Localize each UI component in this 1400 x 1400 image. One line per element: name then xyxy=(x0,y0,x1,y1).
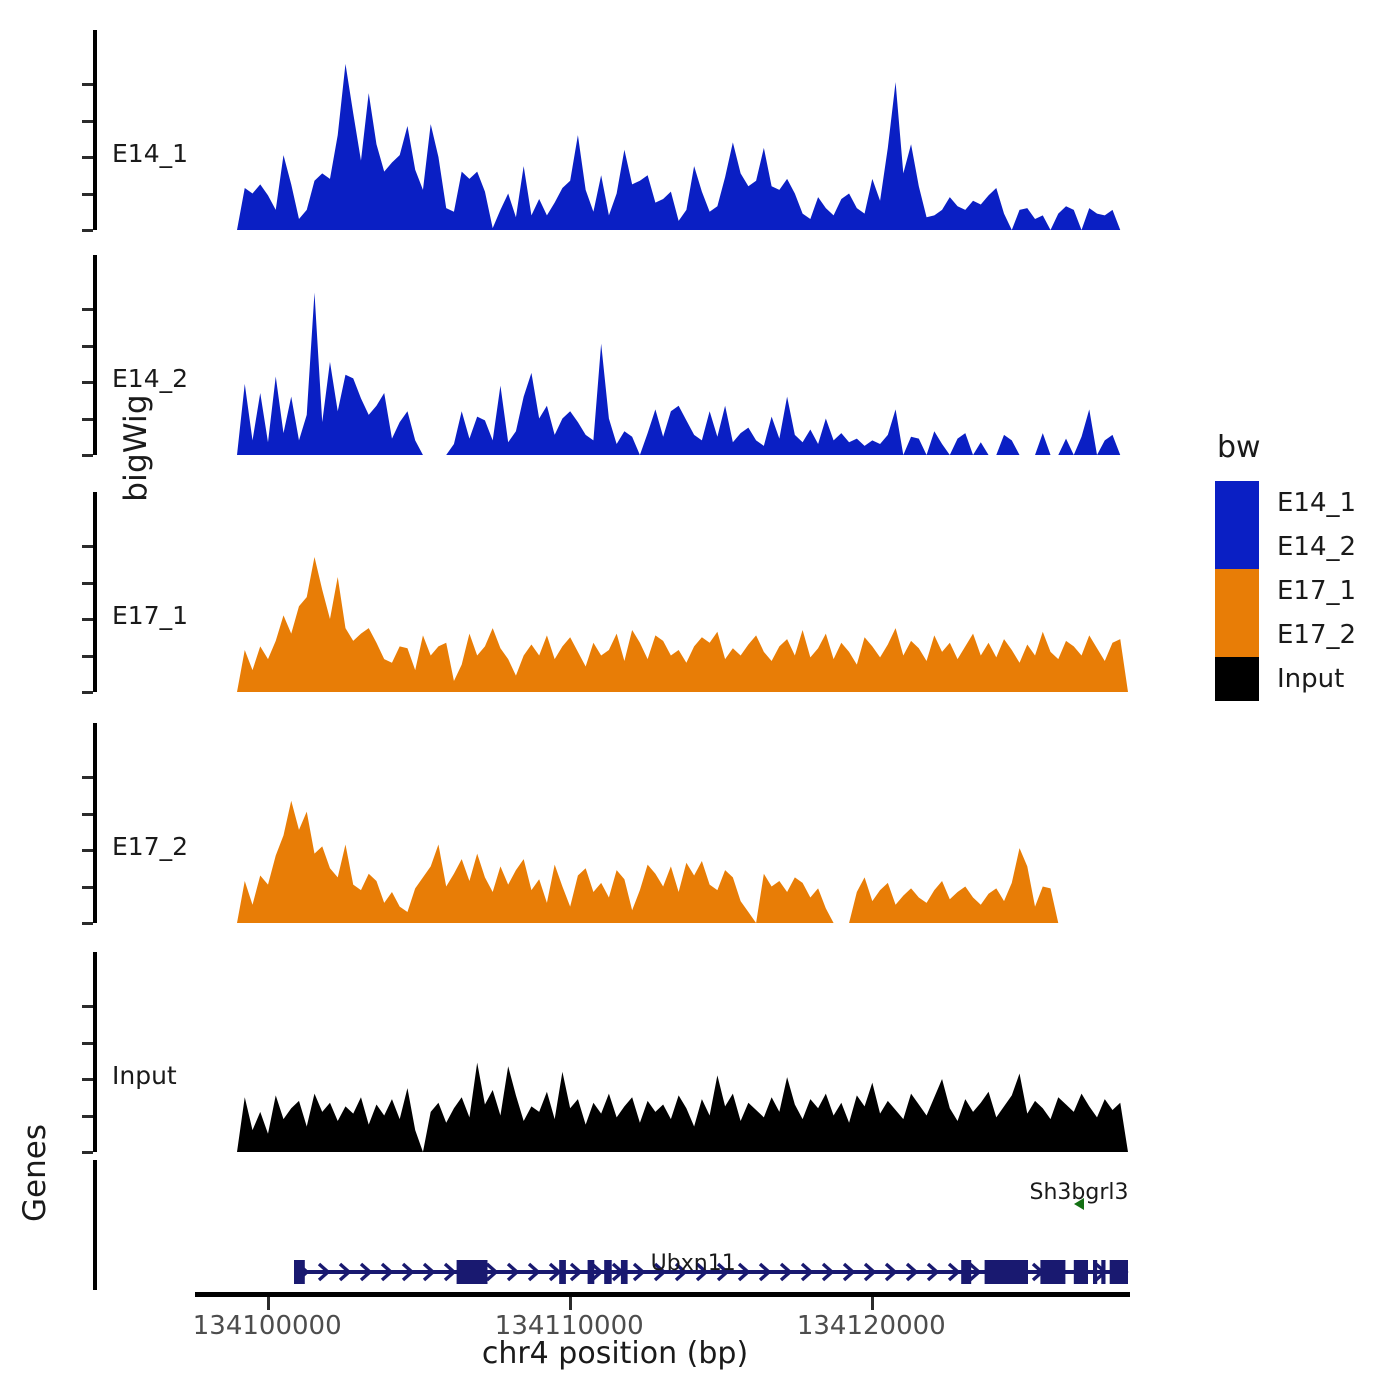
y-tick xyxy=(82,1078,93,1081)
y-axis-spine xyxy=(93,30,97,230)
track-label-e14_2: E14_2 xyxy=(112,364,188,393)
y-tick xyxy=(82,922,93,925)
y-tick xyxy=(82,691,93,694)
coverage-area-e14_2 xyxy=(237,281,1128,457)
legend-label: E14_1 xyxy=(1277,488,1356,518)
y-tick xyxy=(82,776,93,779)
legend-swatch xyxy=(1215,613,1259,657)
y-axis-title-genes: Genes xyxy=(17,1093,53,1253)
y-tick xyxy=(82,1042,93,1045)
coverage-area-e14_1 xyxy=(237,56,1128,232)
y-tick xyxy=(82,618,93,621)
y-tick xyxy=(82,120,93,123)
legend-label: E14_2 xyxy=(1277,532,1356,562)
y-tick xyxy=(82,381,93,384)
y-tick xyxy=(82,849,93,852)
legend-title: bw xyxy=(1217,430,1356,465)
legend-swatch xyxy=(1215,481,1259,525)
y-tick xyxy=(82,1115,93,1118)
legend-swatch xyxy=(1215,525,1259,569)
x-tick-label: 134120000 xyxy=(797,1311,946,1341)
y-axis-spine xyxy=(93,723,97,923)
gene-label-ubxn11: Ubxn11 xyxy=(651,1251,736,1276)
legend-swatch xyxy=(1215,657,1259,701)
y-tick xyxy=(82,229,93,232)
y-tick xyxy=(82,83,93,86)
y-tick xyxy=(82,813,93,816)
y-tick xyxy=(82,1005,93,1008)
track-label-e17_1: E17_1 xyxy=(112,601,188,630)
y-tick xyxy=(82,582,93,585)
legend-items: E14_1E14_2E17_1E17_2Input xyxy=(1215,481,1356,701)
legend-label: E17_2 xyxy=(1277,620,1356,650)
y-axis-title-bigwig: bigWig xyxy=(118,318,154,578)
legend-item-input[interactable]: Input xyxy=(1215,657,1356,701)
legend-label: Input xyxy=(1277,664,1344,694)
legend: bw E14_1E14_2E17_1E17_2Input xyxy=(1215,430,1356,701)
y-tick xyxy=(82,454,93,457)
track-label-e17_2: E17_2 xyxy=(112,832,188,861)
gene-label-sh3bgrl3: Sh3bgrl3 xyxy=(1029,1180,1128,1205)
coverage-area-e17_1 xyxy=(237,518,1128,694)
legend-swatch xyxy=(1215,569,1259,613)
coverage-area-e17_2 xyxy=(237,749,1128,925)
y-tick xyxy=(82,193,93,196)
x-axis-title: chr4 position (bp) xyxy=(90,1336,1140,1371)
x-tick-label: 134110000 xyxy=(495,1311,644,1341)
legend-item-e14_1[interactable]: E14_1 xyxy=(1215,481,1356,525)
y-tick xyxy=(82,1151,93,1154)
track-label-input: Input xyxy=(112,1061,177,1090)
genes-axis-spine xyxy=(93,1160,97,1290)
y-tick xyxy=(82,156,93,159)
y-tick xyxy=(82,345,93,348)
coverage-area-input xyxy=(237,978,1128,1154)
y-tick xyxy=(82,886,93,889)
y-axis-spine xyxy=(93,255,97,455)
x-tick xyxy=(569,1297,572,1310)
legend-item-e17_1[interactable]: E17_1 xyxy=(1215,569,1356,613)
x-tick xyxy=(267,1297,270,1310)
y-axis-spine xyxy=(93,492,97,692)
x-tick-label: 134100000 xyxy=(193,1311,342,1341)
legend-item-e17_2[interactable]: E17_2 xyxy=(1215,613,1356,657)
y-tick xyxy=(82,418,93,421)
y-tick xyxy=(82,655,93,658)
y-tick xyxy=(82,308,93,311)
y-tick xyxy=(82,545,93,548)
x-axis-line xyxy=(195,1292,1130,1297)
y-axis-spine xyxy=(93,952,97,1152)
x-tick xyxy=(871,1297,874,1310)
legend-label: E17_1 xyxy=(1277,576,1356,606)
track-label-e14_1: E14_1 xyxy=(112,139,188,168)
legend-item-e14_2[interactable]: E14_2 xyxy=(1215,525,1356,569)
